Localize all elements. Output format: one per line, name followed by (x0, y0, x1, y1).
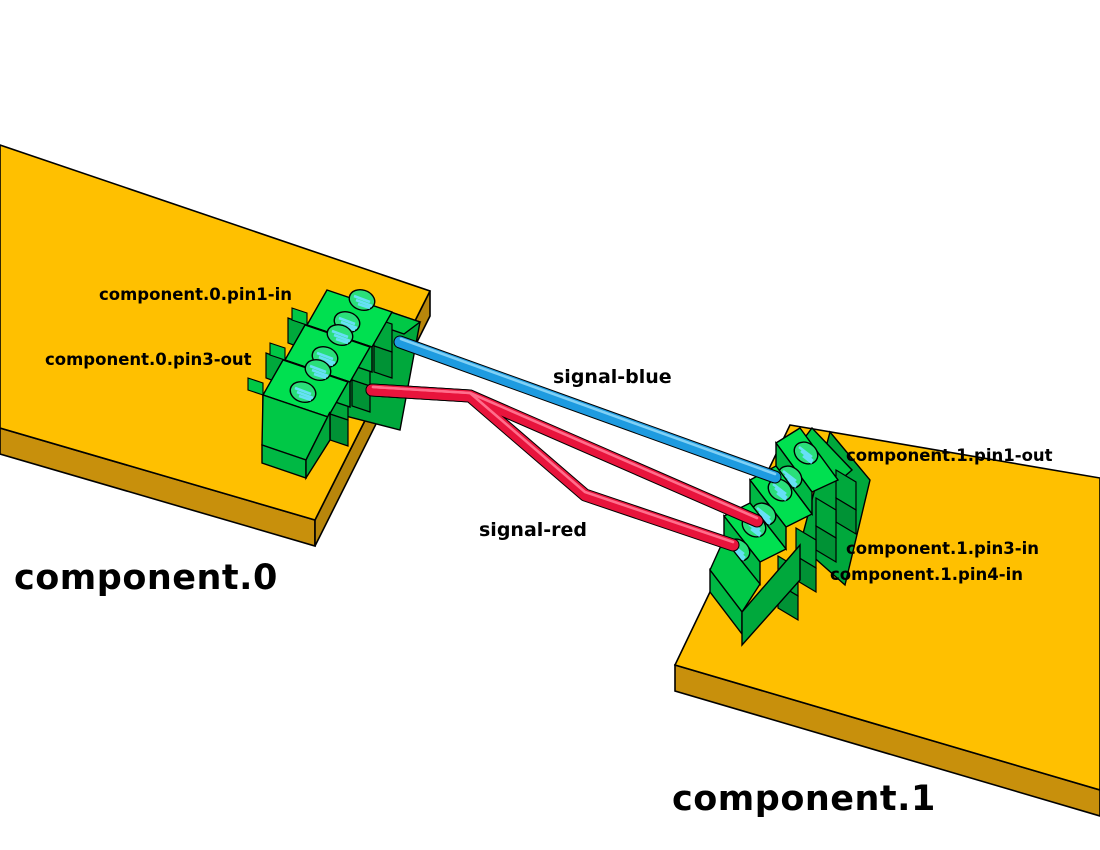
scene-svg: component.0.pin1-in component.0.pin3-out… (0, 0, 1100, 850)
board-label-component-0: component.0 (14, 558, 278, 598)
diagram-canvas: component.0.pin1-in component.0.pin3-out… (0, 0, 1100, 850)
pin-label-component-1-pin3-in: component.1.pin3-in (846, 539, 1039, 558)
signal-label-signal-blue: signal-blue (553, 366, 672, 388)
signal-label-signal-red: signal-red (479, 519, 587, 541)
pin-label-component-0-pin1-in: component.0.pin1-in (99, 285, 292, 304)
pin-label-component-1-pin1-out: component.1.pin1-out (846, 446, 1053, 465)
pin-label-component-0-pin3-out: component.0.pin3-out (45, 350, 252, 369)
board-label-component-1: component.1 (672, 779, 936, 819)
wire-signal-blue[interactable] (400, 339, 775, 477)
wire-blue-core (400, 342, 775, 477)
pin-label-component-1-pin4-in: component.1.pin4-in (830, 565, 1023, 584)
